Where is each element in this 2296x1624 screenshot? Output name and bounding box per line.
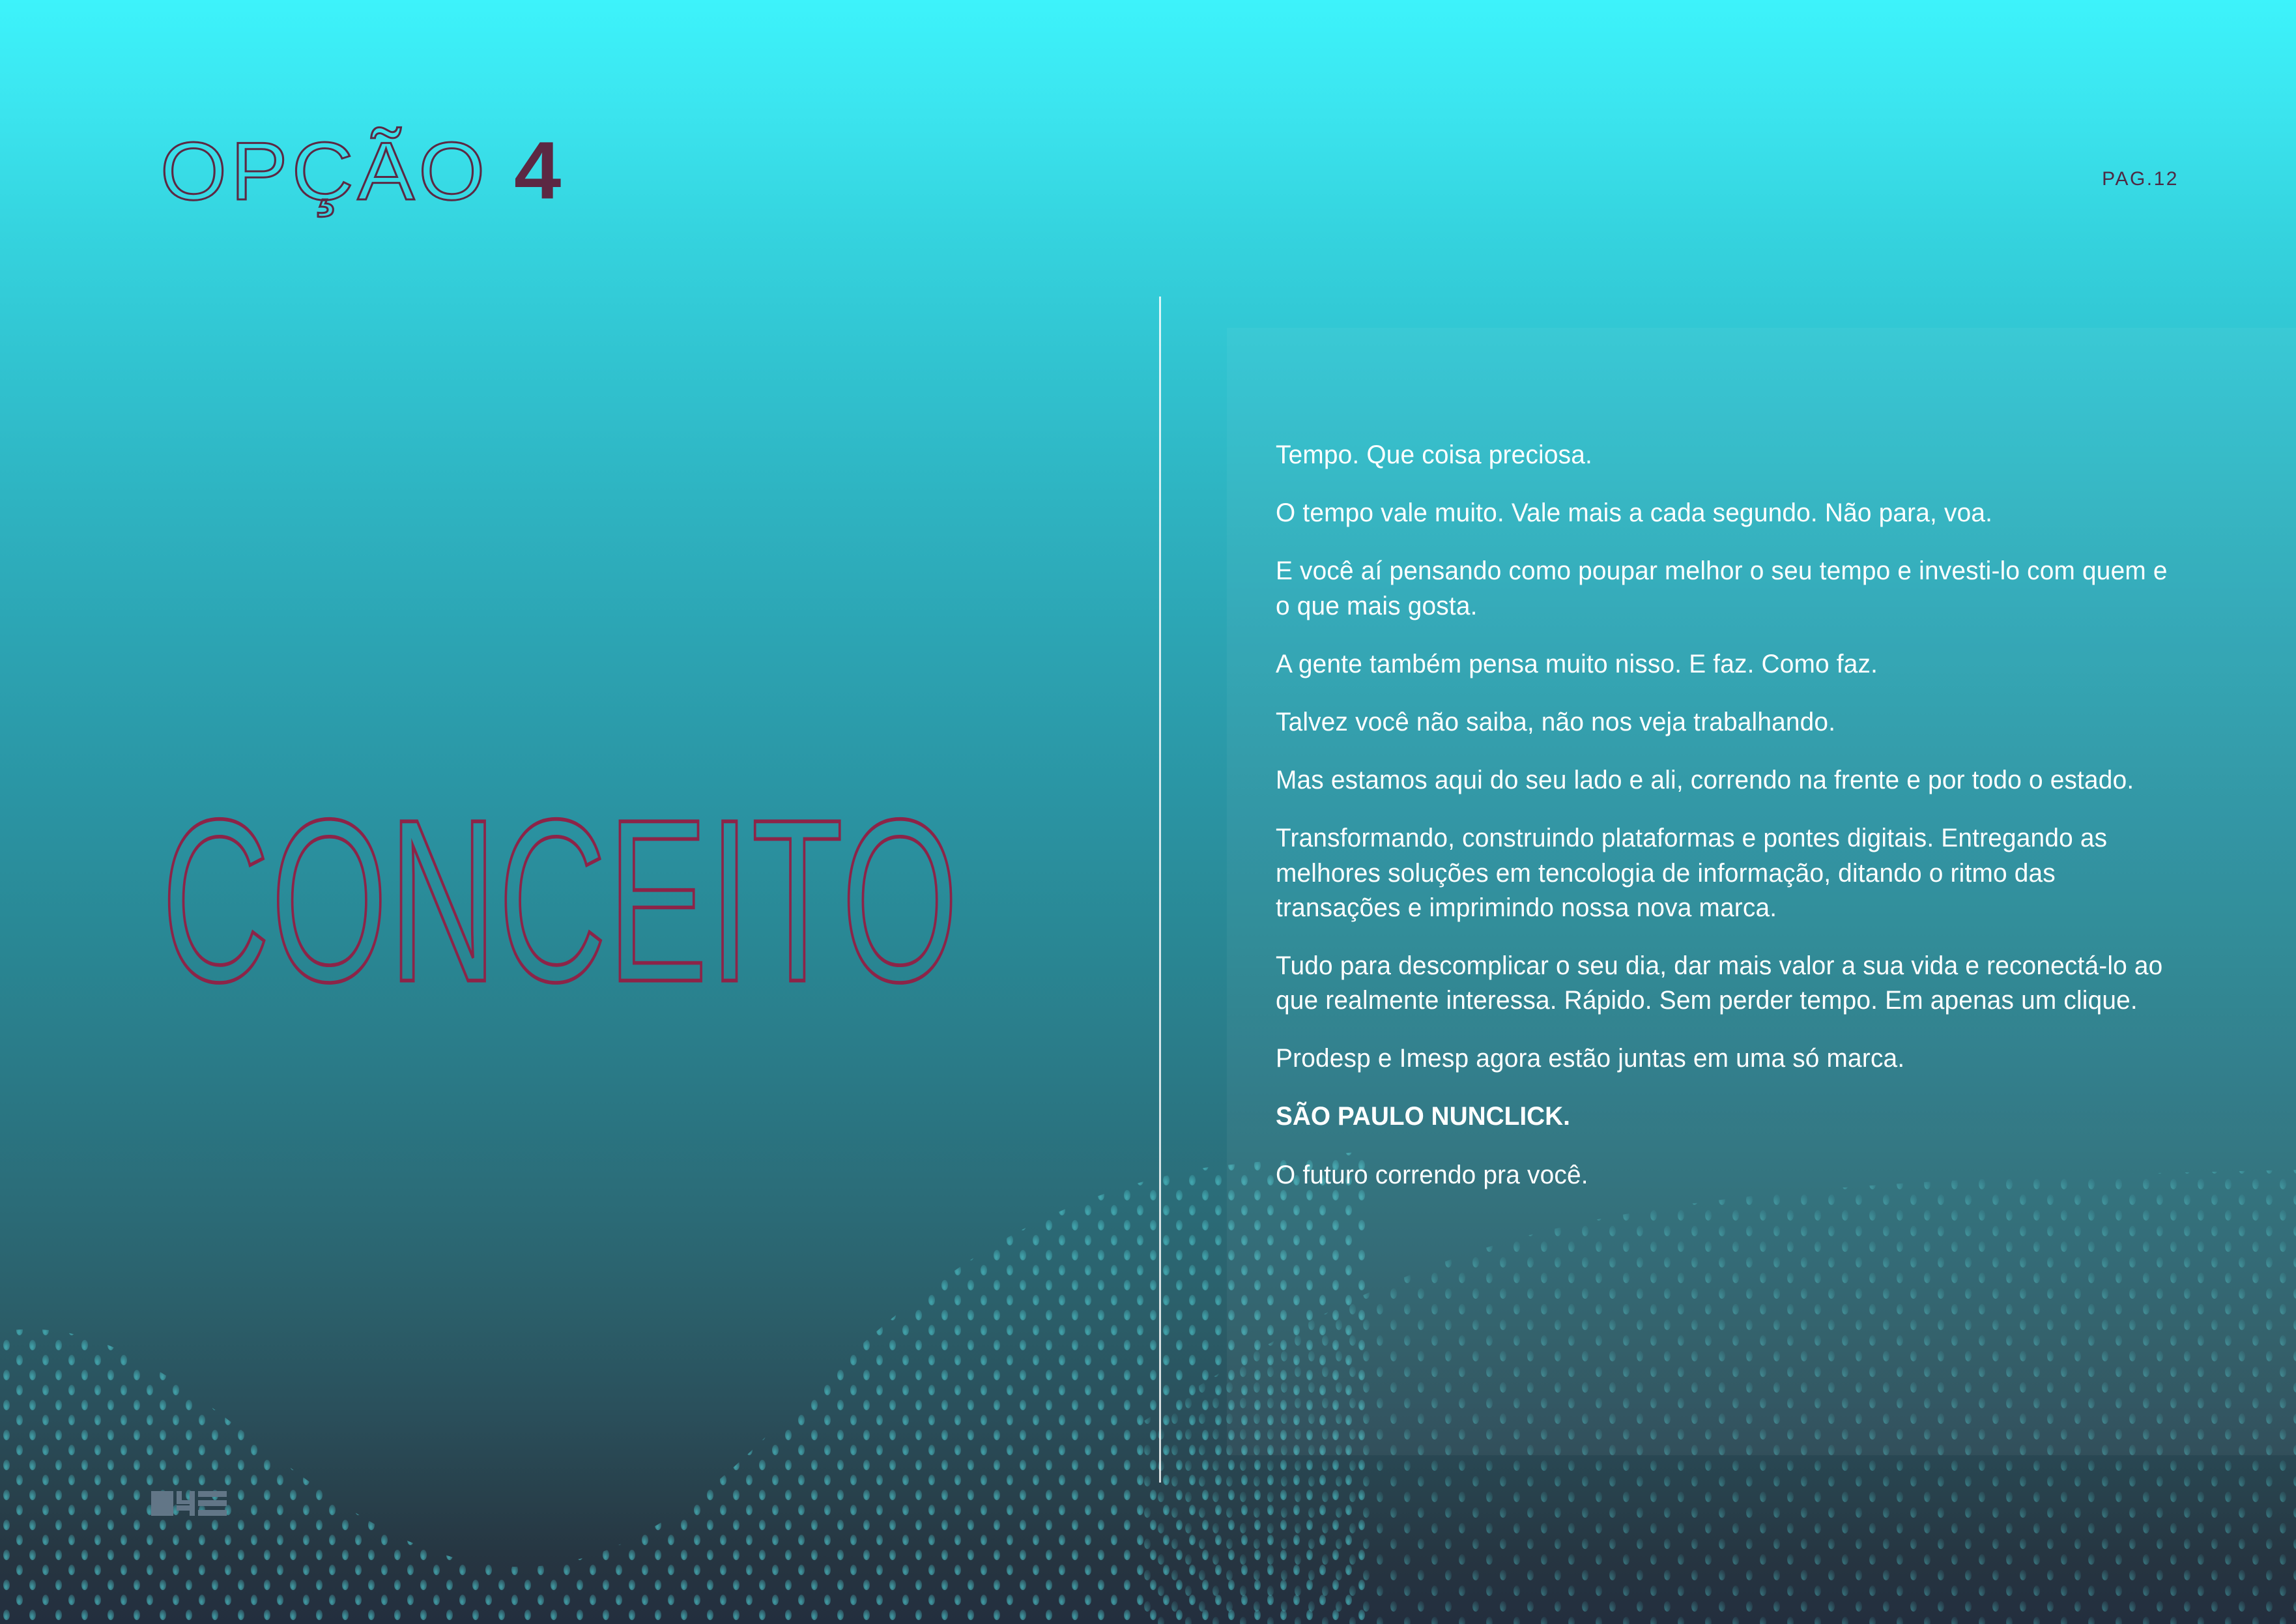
body-paragraph: Transformando, construindo plataformas e… <box>1276 821 2173 925</box>
oye-logo <box>151 1490 227 1517</box>
column-divider <box>1159 297 1161 1483</box>
body-paragraph: Tudo para descomplicar o seu dia, dar ma… <box>1276 949 2173 1018</box>
section-heading: CONCEITO <box>162 785 959 1017</box>
body-paragraph: Talvez você não saiba, não nos veja trab… <box>1276 705 2173 740</box>
title-block: OPÇÃO 4 <box>160 130 555 212</box>
dotted-wave-decoration <box>0 978 1368 1624</box>
body-paragraph: Prodesp e Imesp agora estão juntas em um… <box>1276 1041 2173 1076</box>
body-paragraph: Tempo. Que coisa preciosa. <box>1276 438 2173 472</box>
body-paragraph: Mas estamos aqui do seu lado e ali, corr… <box>1276 763 2173 798</box>
slide-header: OPÇÃO 4 PAG.12 <box>0 0 2296 248</box>
body-paragraph: O futuro correndo pra você. <box>1276 1158 2173 1193</box>
page-title: OPÇÃO <box>160 130 489 212</box>
option-number: 4 <box>514 130 560 211</box>
body-paragraph: SÃO PAULO NUNCLICK. <box>1276 1099 2173 1134</box>
body-copy: Tempo. Que coisa preciosa.O tempo vale m… <box>1276 438 2201 1193</box>
body-paragraph: A gente também pensa muito nisso. E faz.… <box>1276 647 2173 682</box>
page-number: PAG.12 <box>2102 168 2179 190</box>
body-paragraph: O tempo vale muito. Vale mais a cada seg… <box>1276 496 2173 530</box>
slide-canvas: OPÇÃO 4 PAG.12 CONCEITO Tempo. Que coisa… <box>0 0 2296 1624</box>
body-paragraph: E você aí pensando como poupar melhor o … <box>1276 554 2173 623</box>
